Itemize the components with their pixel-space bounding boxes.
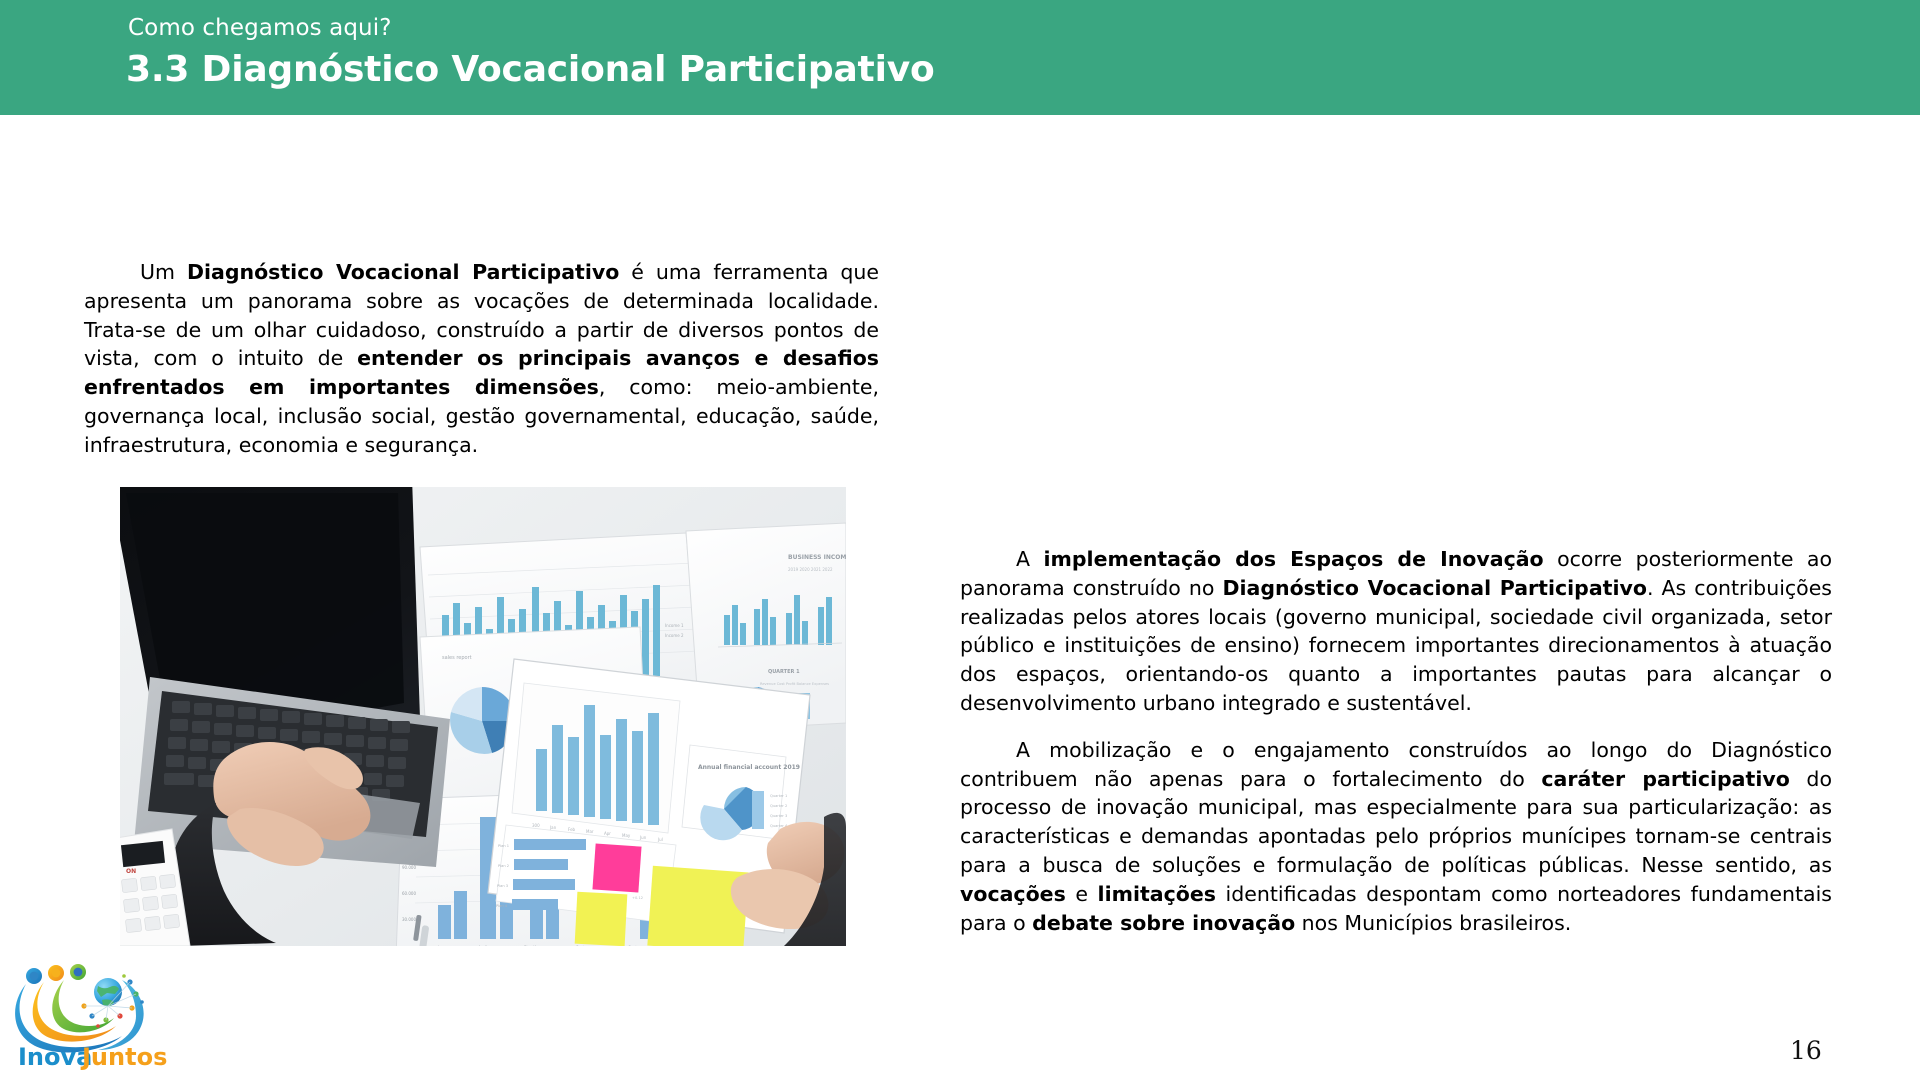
emphasis-text: caráter participativo [1541, 767, 1789, 791]
emphasis-text: Diagnóstico Vocacional Participativo [1222, 576, 1647, 600]
emphasis-text: limitações [1098, 882, 1216, 906]
body-text: Um [140, 260, 187, 284]
page-header-band: Como chegamos aqui? 3.3 Diagnóstico Voca… [0, 0, 1920, 115]
svg-text:May: May [622, 833, 631, 838]
svg-text:30.000: 30.000 [402, 917, 416, 922]
paragraph: Um Diagnóstico Vocacional Participativo … [84, 258, 879, 460]
emphasis-text: debate sobre inovação [1032, 911, 1295, 935]
svg-text:Jan: Jan [549, 825, 557, 830]
body-text: A [1016, 547, 1044, 571]
svg-text:Income 1: Income 1 [665, 623, 684, 628]
svg-text:+0.12: +0.12 [632, 896, 643, 900]
svg-text:Quarter 2: Quarter 2 [770, 804, 787, 808]
svg-text:Plan 4: Plan 4 [496, 904, 508, 908]
svg-text:Plan 2: Plan 2 [498, 864, 509, 868]
page-title: 3.3 Diagnóstico Vocacional Participativo [126, 48, 935, 92]
emphasis-text: Diagnóstico Vocacional Participativo [187, 260, 619, 284]
svg-text:Sector: Sector [576, 945, 589, 946]
svg-text:sales report: sales report [442, 655, 472, 661]
right-text-column: A implementação dos Espaços de Inovação … [960, 545, 1832, 937]
header-eyebrow: Como chegamos aqui? [128, 14, 392, 42]
svg-text:90.000: 90.000 [402, 865, 416, 870]
svg-text:Annual financial account 2019: Annual financial account 2019 [698, 764, 800, 771]
svg-text:60.000: 60.000 [402, 891, 416, 896]
svg-text:Jul: Jul [657, 837, 663, 842]
svg-text:Customer: Customer [628, 945, 648, 946]
paragraph: A mobilização e o engajamento construído… [960, 736, 1832, 938]
body-text: nos Municípios brasileiros. [1295, 911, 1571, 935]
svg-text:BUSINESS INCOME: BUSINESS INCOME [788, 554, 846, 561]
emphasis-text: vocações [960, 882, 1066, 906]
svg-text:Feb: Feb [568, 827, 576, 832]
svg-text:QUARTER 1: QUARTER 1 [768, 669, 800, 675]
business-analytics-photo: Income 1 Income 2 BUSINESS INCOME 2019 2… [120, 487, 846, 946]
emphasis-text: implementação dos Espaços de Inovação [1044, 547, 1544, 571]
svg-text:Quarter 1: Quarter 1 [770, 794, 787, 798]
left-text-column: Um Diagnóstico Vocacional Participativo … [84, 258, 879, 460]
page-number: 16 [1790, 1036, 1850, 1066]
svg-text:Jun: Jun [639, 835, 647, 840]
svg-text:Jan: Jan [437, 945, 445, 946]
svg-text:Mar: Mar [586, 829, 594, 834]
svg-text:Plan 3: Plan 3 [497, 884, 508, 888]
svg-text:2019 2020 2021 2022: 2019 2020 2021 2022 [788, 567, 833, 572]
svg-text:Apr: Apr [604, 831, 611, 836]
svg-text:Income 2: Income 2 [665, 633, 684, 638]
inova-juntos-logo: Inova Juntos [10, 962, 172, 1072]
svg-text:Plan 1: Plan 1 [498, 844, 509, 848]
body-text: e [1066, 882, 1098, 906]
logo-wordmark-juntos: Juntos [80, 1043, 167, 1071]
svg-text:April: April [478, 945, 487, 946]
svg-text:Quarter 3: Quarter 3 [770, 814, 787, 818]
svg-text:Plan/Area: Plan/Area [524, 945, 544, 946]
svg-text:Revenue Cost Profit Balance: Revenue Cost Profit Balance Expenses [760, 682, 829, 686]
svg-text:300: 300 [532, 823, 540, 828]
svg-text:ON: ON [126, 868, 136, 875]
paragraph: A implementação dos Espaços de Inovação … [960, 545, 1832, 718]
